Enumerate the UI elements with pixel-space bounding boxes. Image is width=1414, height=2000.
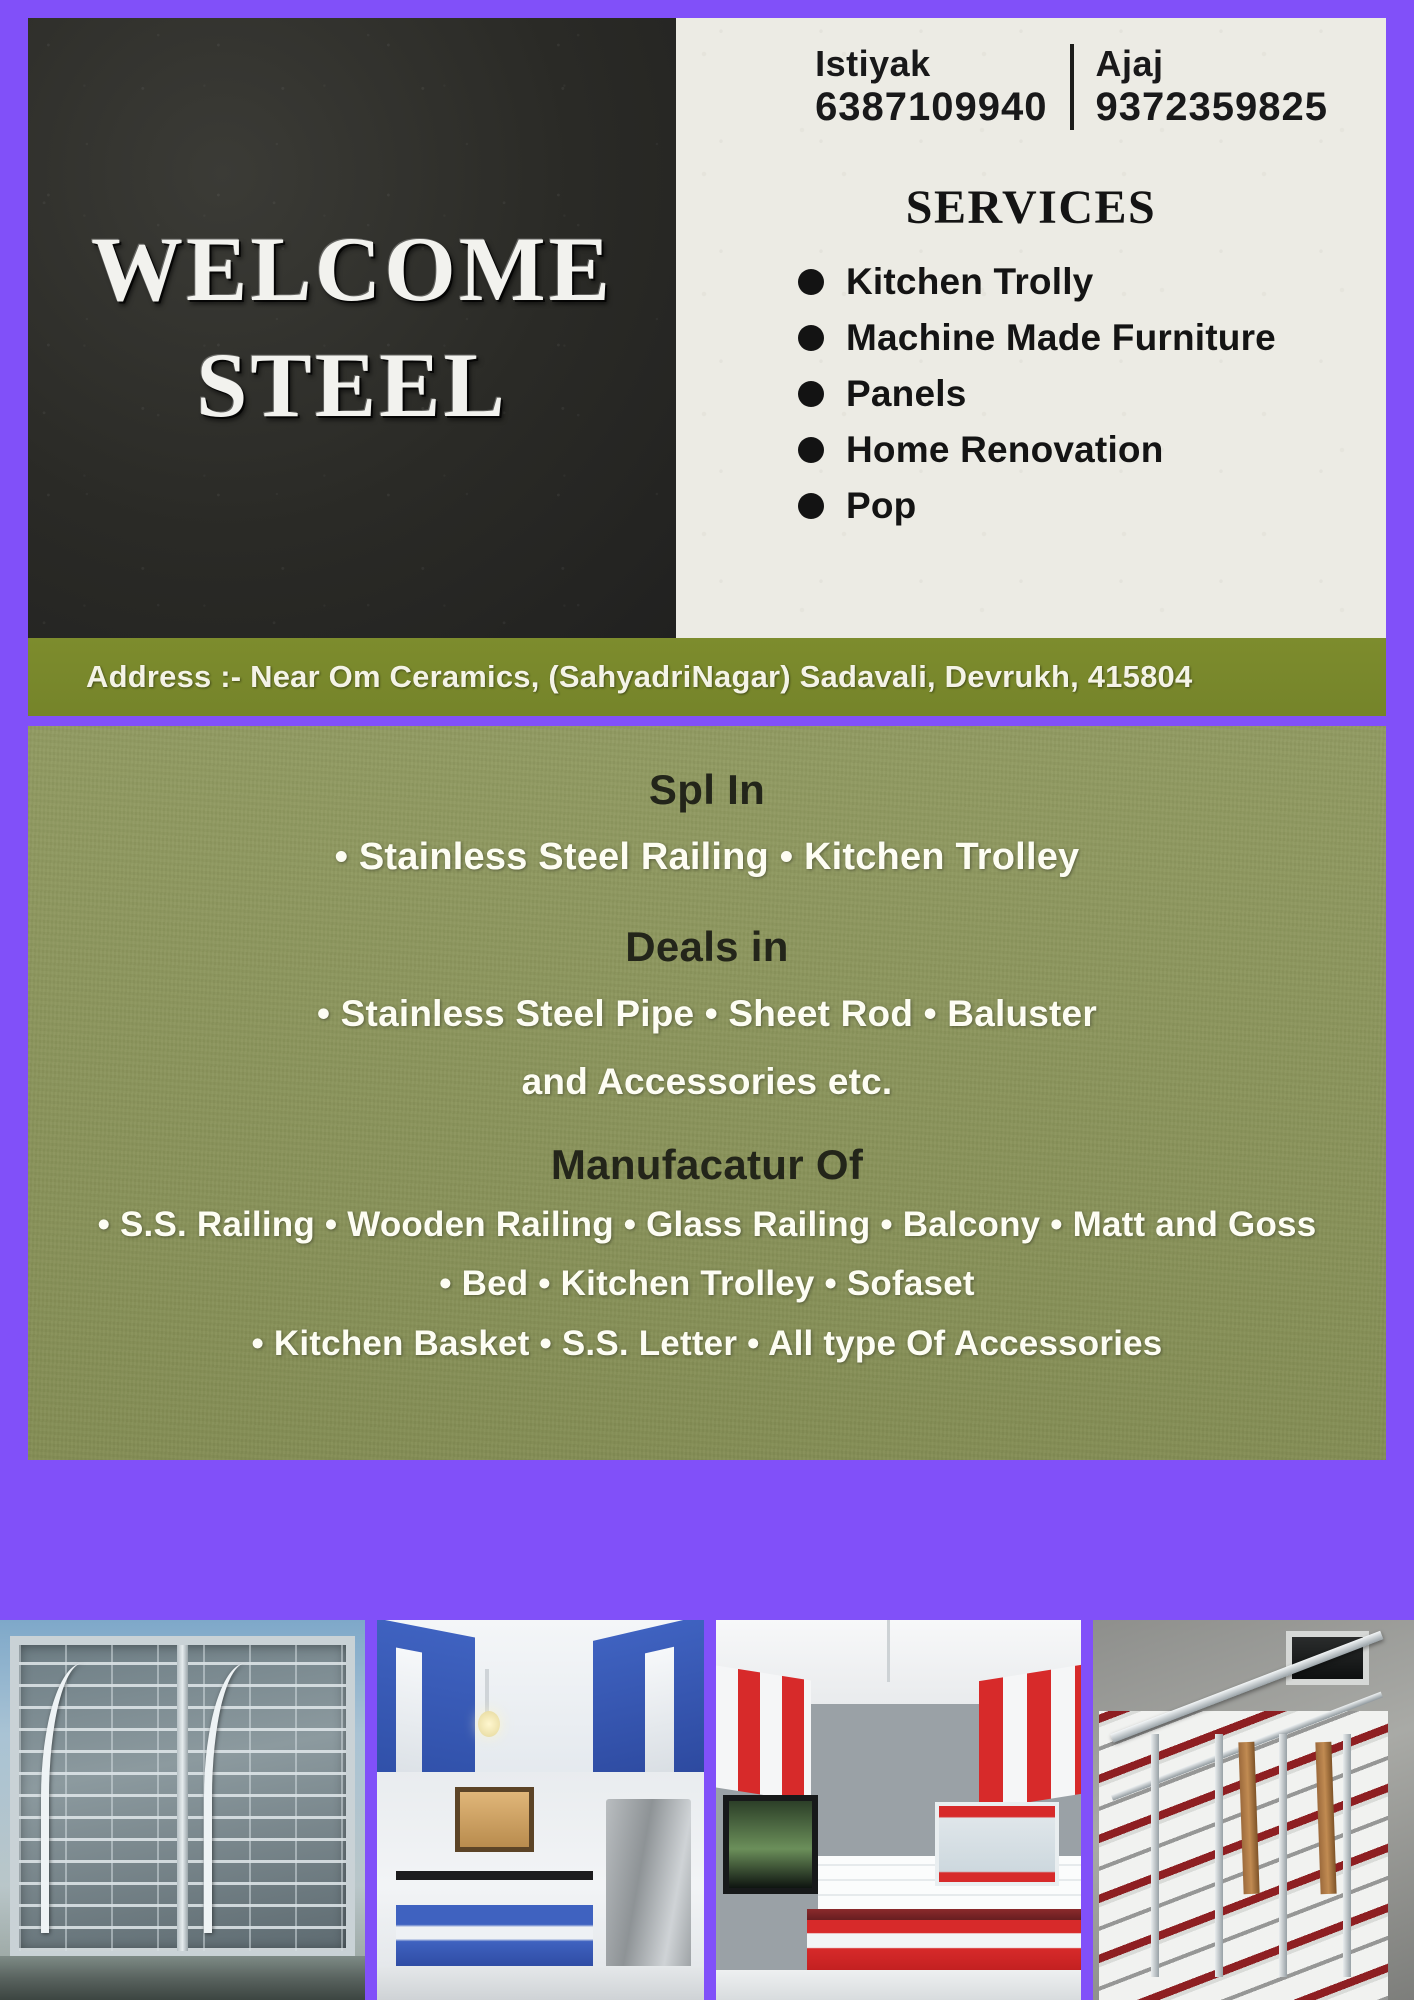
contact-list: Istiyak 6387109940 Ajaj 9372359825	[690, 44, 1372, 130]
deals-in-items: • Stainless Steel Pipe • Sheet Rod • Bal…	[28, 989, 1386, 1039]
door-frame	[10, 1636, 355, 1960]
contact-phone[interactable]: 9372359825	[1096, 84, 1328, 130]
service-label: Pop	[846, 485, 916, 527]
contact-istiyak: Istiyak 6387109940	[793, 44, 1069, 130]
contact-name: Istiyak	[815, 44, 1047, 84]
upper-cabinet-left	[716, 1666, 811, 1803]
deals-in-heading: Deals in	[28, 923, 1386, 971]
services-heading: SERVICES	[690, 180, 1372, 235]
manufacture-heading: Manufacatur Of	[28, 1141, 1386, 1189]
photo-stainless-steel-safety-door	[0, 1620, 365, 2000]
countertop	[396, 1871, 592, 1880]
manufacture-row: • Kitchen Basket • S.S. Letter • All typ…	[28, 1320, 1386, 1367]
floor	[716, 1970, 1081, 2000]
bullet-dot-icon	[798, 493, 824, 519]
kitchen-window	[723, 1795, 818, 1894]
list-item: Kitchen Trolly	[798, 261, 1372, 303]
lower-cabinets	[396, 1905, 592, 1970]
photo-blue-white-modular-kitchen	[377, 1620, 704, 2000]
bullet-dot-icon	[798, 381, 824, 407]
project-photo-strip	[0, 1620, 1414, 2000]
glass-door-cabinet	[935, 1802, 1059, 1886]
service-label: Machine Made Furniture	[846, 317, 1276, 359]
railing-post	[1215, 1734, 1223, 1977]
center-mullion	[177, 1645, 188, 1951]
bullet-dot-icon	[798, 437, 824, 463]
kitchen-window	[455, 1787, 534, 1852]
business-card-image: WELCOME STEEL Istiyak 6387109940 Ajaj 93…	[28, 18, 1386, 638]
service-label: Kitchen Trolly	[846, 261, 1093, 303]
spl-in-items: • Stainless Steel Railing • Kitchen Trol…	[28, 832, 1386, 883]
manufacture-row: • S.S. Railing • Wooden Railing • Glass …	[28, 1201, 1386, 1248]
railing-post	[1343, 1734, 1351, 1977]
service-label: Home Renovation	[846, 429, 1164, 471]
photo-red-white-modular-kitchen	[716, 1620, 1081, 2000]
brand-plaque: WELCOME STEEL	[28, 18, 676, 638]
door-base	[0, 1956, 365, 2000]
countertop	[807, 1909, 1081, 1921]
pendant-cord	[887, 1620, 890, 1682]
address-band: Address :- Near Om Ceramics, (SahyadriNa…	[28, 638, 1386, 716]
card-info-panel: Istiyak 6387109940 Ajaj 9372359825 SERVI…	[676, 18, 1386, 638]
spl-in-heading: Spl In	[28, 766, 1386, 814]
spacer	[28, 1107, 1386, 1135]
services-list: Kitchen Trolly Machine Made Furniture Pa…	[798, 261, 1372, 527]
spacer	[28, 883, 1386, 917]
service-label: Panels	[846, 373, 967, 415]
list-item: Machine Made Furniture	[798, 317, 1372, 359]
contact-ajaj: Ajaj 9372359825	[1070, 44, 1350, 130]
list-item: Panels	[798, 373, 1372, 415]
photo-staircase-steel-railing	[1093, 1620, 1414, 2000]
contact-name: Ajaj	[1096, 44, 1328, 84]
pendant-cord	[485, 1669, 489, 1713]
specialities-panel: Spl In • Stainless Steel Railing • Kitch…	[28, 726, 1386, 1460]
manufacture-row: • Bed • Kitchen Trolley • Sofaset	[28, 1260, 1386, 1307]
floor	[377, 1966, 704, 2000]
railing-post	[1279, 1734, 1287, 1977]
brand-name-line1: WELCOME	[91, 223, 613, 317]
railing-post	[1151, 1734, 1159, 1977]
list-item: Home Renovation	[798, 429, 1372, 471]
upper-cabinet-right	[979, 1665, 1081, 1810]
bullet-dot-icon	[798, 269, 824, 295]
business-poster: WELCOME STEEL Istiyak 6387109940 Ajaj 93…	[0, 0, 1414, 2000]
lower-cabinets	[807, 1920, 1081, 1973]
bullet-dot-icon	[798, 325, 824, 351]
list-item: Pop	[798, 485, 1372, 527]
deals-in-items-line2: and Accessories etc.	[28, 1057, 1386, 1107]
brand-name-line2: STEEL	[196, 339, 508, 433]
address-text: Address :- Near Om Ceramics, (SahyadriNa…	[86, 659, 1192, 695]
refrigerator	[606, 1799, 691, 1978]
contact-phone[interactable]: 6387109940	[815, 84, 1047, 130]
